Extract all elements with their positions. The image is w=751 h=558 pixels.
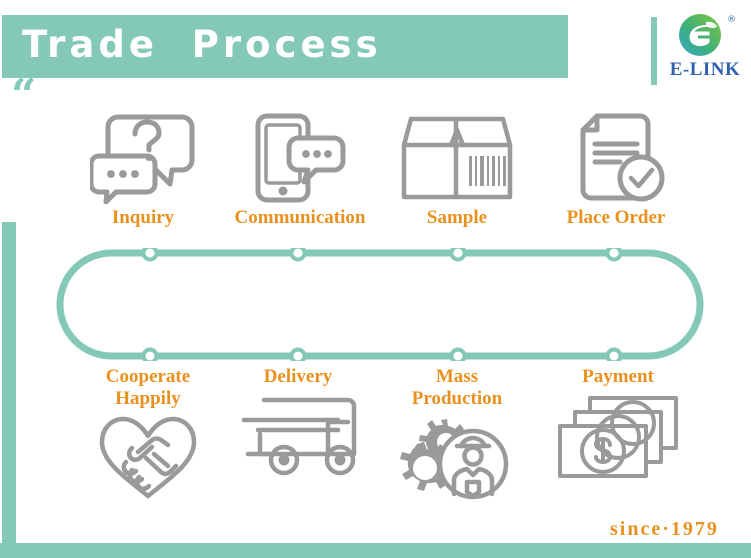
step-label: Delivery [228,366,368,388]
handshake-heart-icon [96,414,200,500]
gears-worker-icon [399,414,515,500]
step-label: Mass Production [386,366,528,410]
bottom-accent-bar [0,543,751,558]
brand-name: E-LINK [665,59,745,81]
left-accent-bar [2,222,16,544]
step-sample[interactable]: Sample [392,112,522,229]
brand-logo: ® E-LINK [651,11,751,89]
step-inquiry[interactable]: Inquiry [78,112,208,229]
registered-trademark-icon: ® [727,15,736,25]
logo-divider [651,17,657,85]
step-place-order[interactable]: Place Order [548,112,684,229]
document-check-icon [566,112,666,204]
step-label: Cooperate Happily [78,366,218,410]
open-box-barcode-icon [397,112,517,204]
step-cooperate-happily[interactable]: Cooperate Happily [78,366,218,500]
chat-bubbles-question-icon [90,112,196,204]
step-mass-production[interactable]: Mass Production [386,366,528,500]
step-payment[interactable]: Payment [548,366,688,478]
step-label: Communication [220,207,380,229]
step-communication[interactable]: Communication [220,112,380,229]
flow-node-group [144,248,621,361]
step-label: Inquiry [78,207,208,229]
dollar-banknotes-icon [556,392,680,478]
smartphone-chat-icon [254,112,346,204]
step-label: Place Order [548,207,684,229]
trade-process-slide: Trade Process “ ® E-LINK [0,0,751,558]
step-label: Sample [392,207,522,229]
step-label: Payment [548,366,688,388]
step-delivery[interactable]: Delivery [228,366,368,478]
since-label: since·1979 [610,518,719,541]
process-flow-path [55,248,705,361]
decorative-quote-icon: “ [11,79,38,113]
delivery-truck-icon [236,392,360,478]
page-title: Trade Process [22,21,382,69]
elink-emblem-icon [678,13,722,57]
